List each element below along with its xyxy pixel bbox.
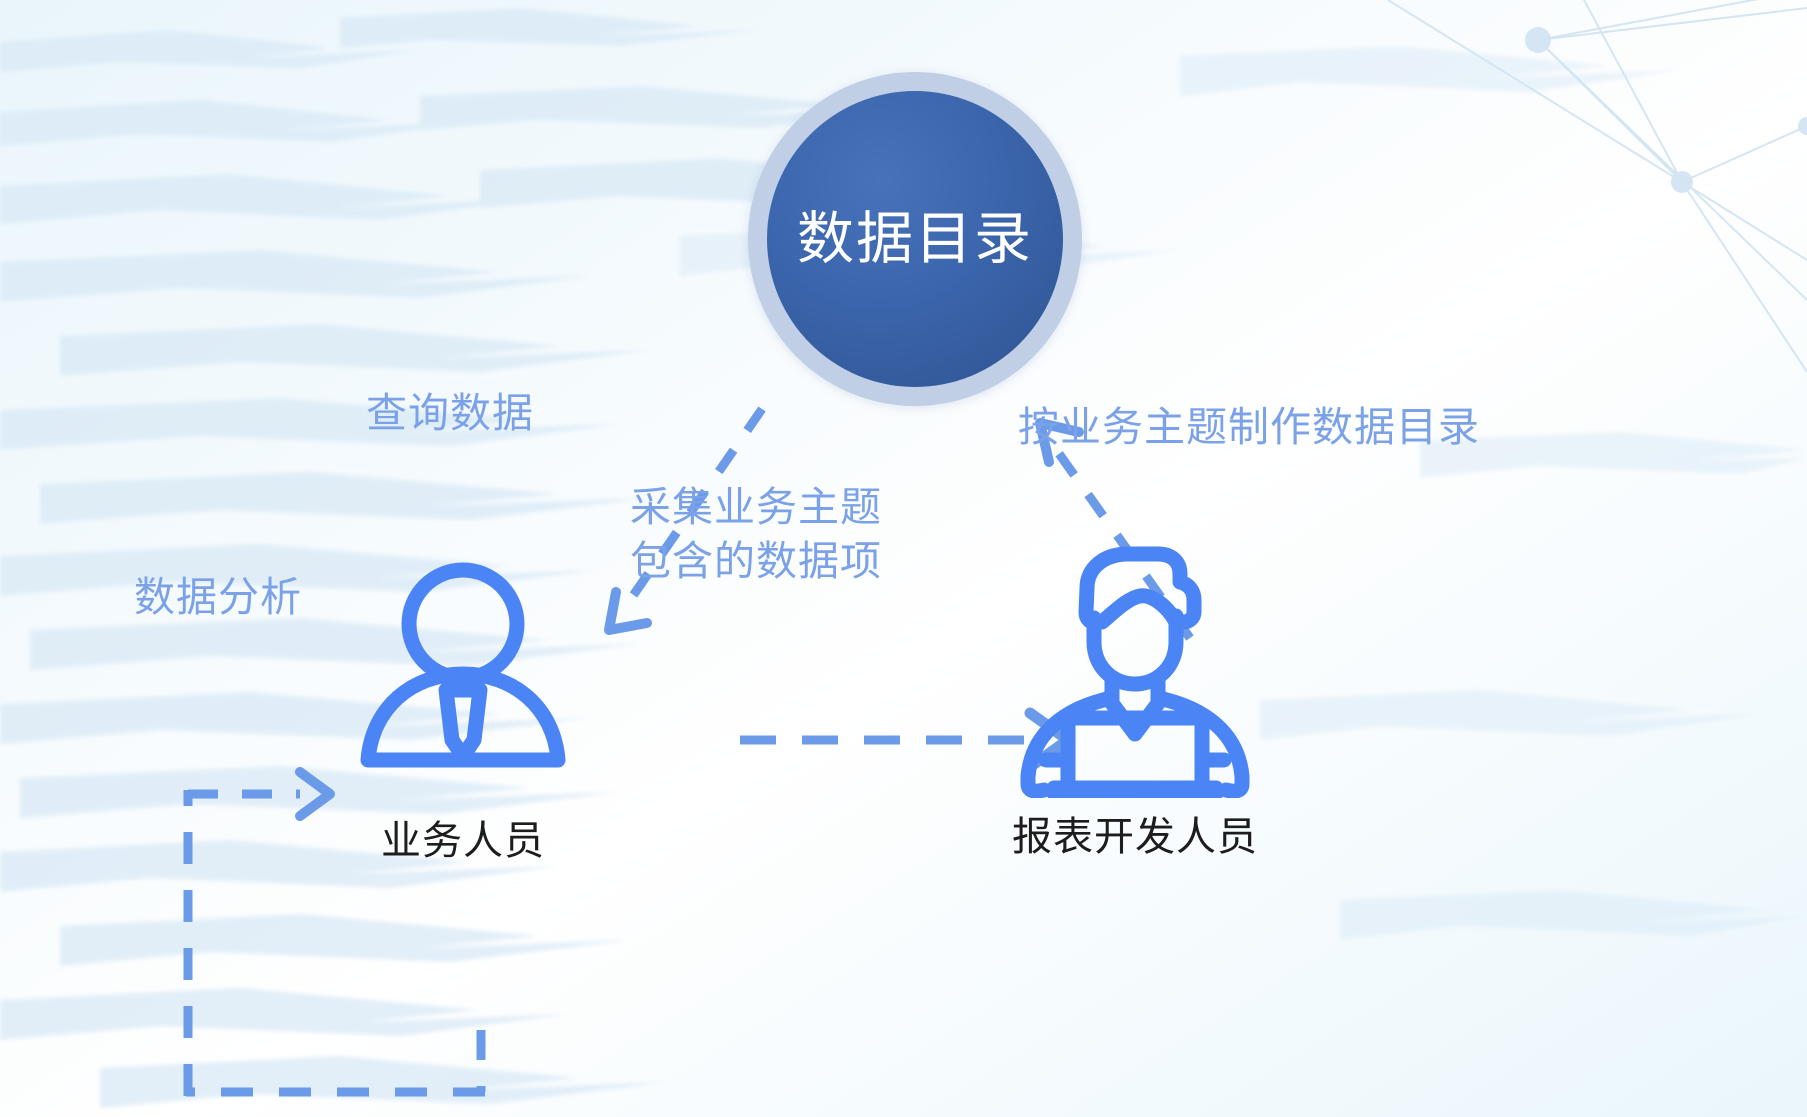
actor-label-business-person: 业务人员 (381, 808, 545, 866)
actor-report-developer[interactable]: 报表开发人员 (990, 538, 1280, 862)
catalog-label: 数据目录 (797, 211, 1033, 268)
actor-business-person[interactable]: 业务人员 (338, 552, 588, 866)
edge-label-data-analysis: 数据分析 (134, 570, 302, 624)
actor-label-report-developer: 报表开发人员 (1012, 804, 1258, 862)
person-with-laptop-icon (990, 538, 1280, 798)
diagram-canvas: 数据目录 查询数据 按业务主题制作数据目录 采集业务主题 包含的数据项 数据分析… (0, 0, 1807, 1117)
person-with-tie-icon (338, 552, 588, 802)
catalog-disc: 数据目录 (767, 91, 1063, 387)
edge-label-make-catalog: 按业务主题制作数据目录 (1018, 400, 1480, 454)
edge-label-query-data: 查询数据 (366, 386, 534, 440)
edge-label-collect-items: 采集业务主题 包含的数据项 (630, 480, 882, 588)
central-node-data-catalog[interactable]: 数据目录 (748, 72, 1082, 406)
